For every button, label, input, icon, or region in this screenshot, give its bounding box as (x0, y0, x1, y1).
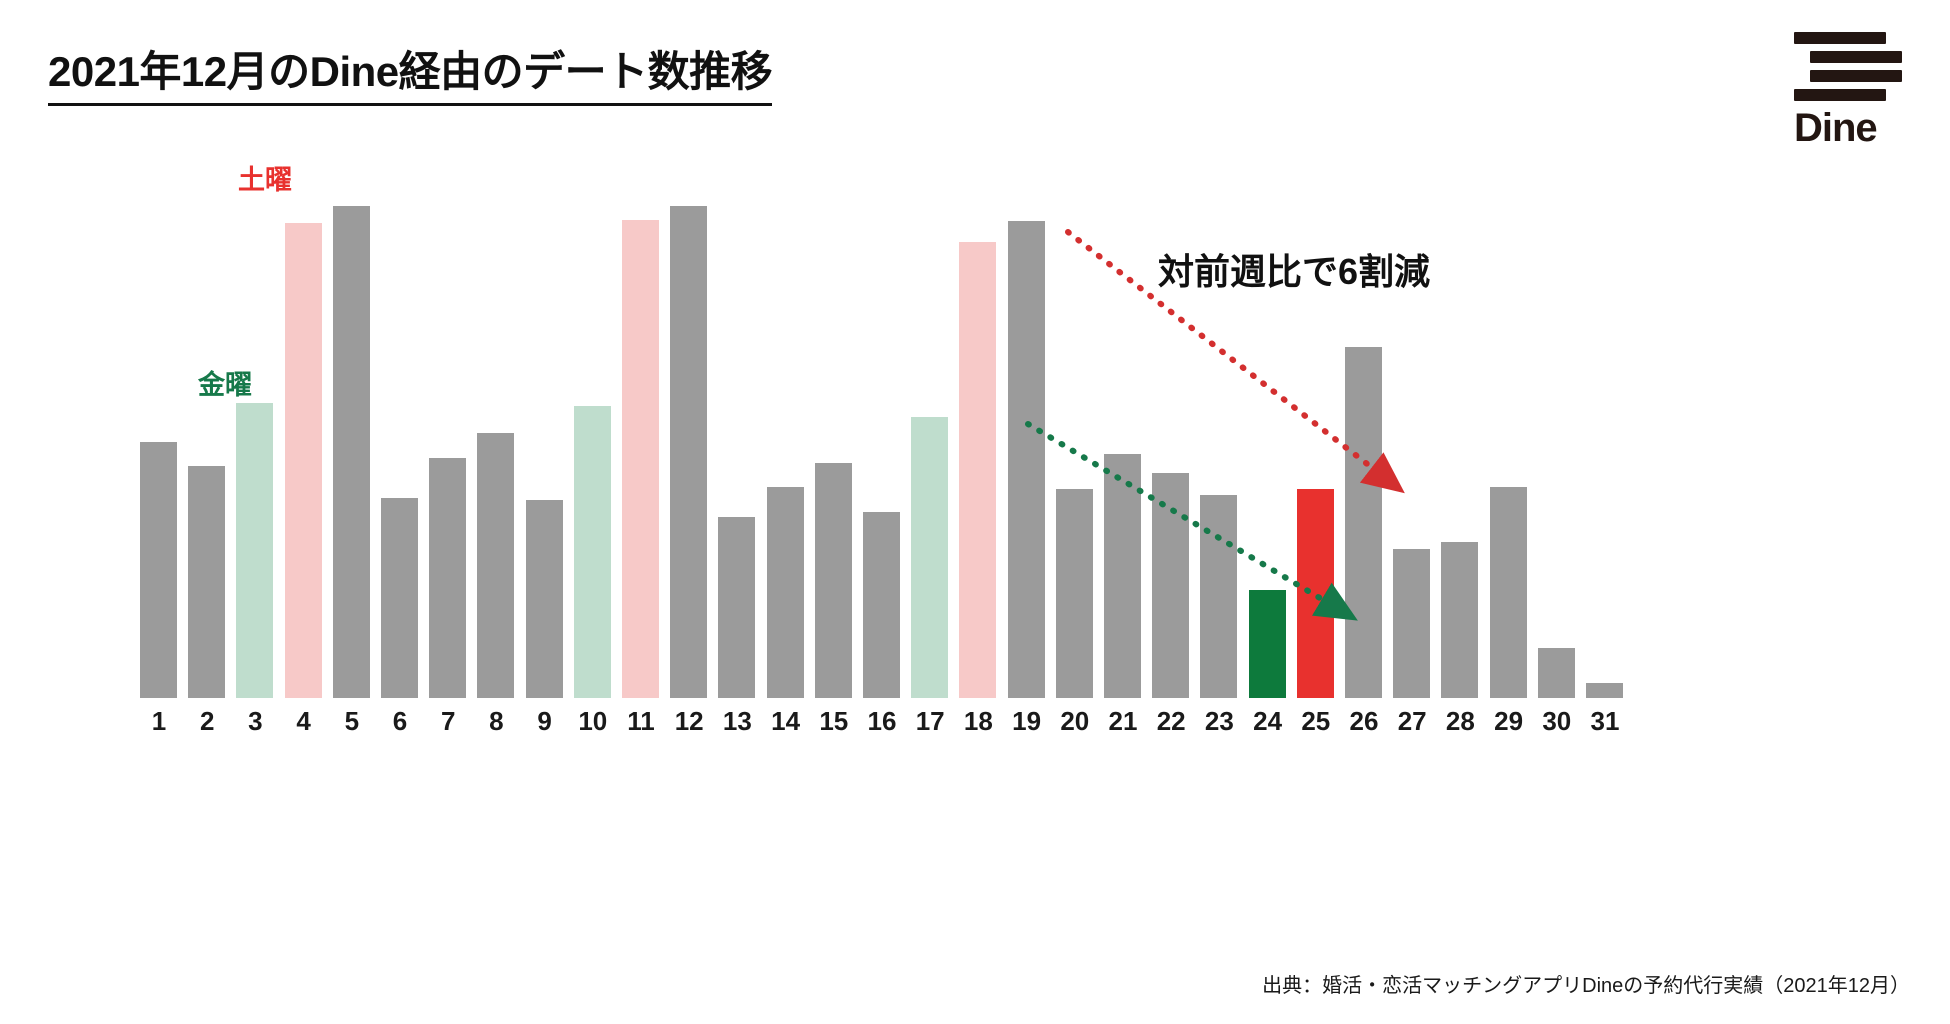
red-decline-arrow (1068, 232, 1393, 484)
annotation-arrows (0, 0, 1950, 1024)
green-decline-arrow (1028, 424, 1345, 613)
source-note: 出典：婚活・恋活マッチングアプリDineの予約代行実績（2021年12月） (1262, 969, 1910, 998)
